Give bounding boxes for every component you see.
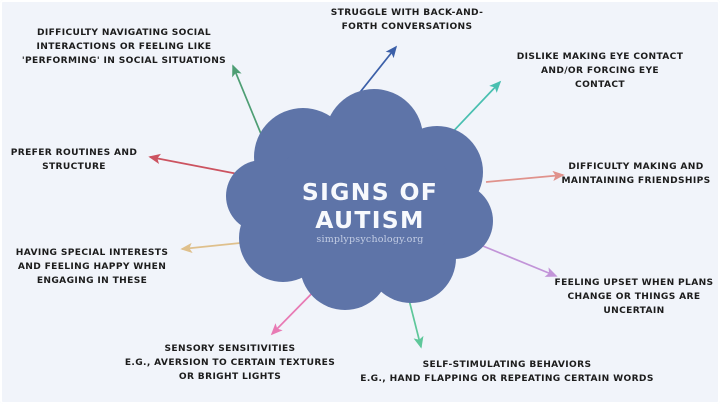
label-plans-change: FEELING UPSET WHEN PLANS CHANGE OR THING… [552, 276, 716, 318]
arrow-plans-change [478, 244, 556, 276]
label-eye-contact: DISLIKE MAKING EYE CONTACT AND/OR FORCIN… [494, 50, 706, 92]
label-friendships: DIFFICULTY MAKING AND MAINTAINING FRIEND… [556, 160, 716, 188]
diagram-canvas: SIGNS OF AUTISM simplypsychology.org DIF… [0, 0, 720, 404]
arrow-friendships [486, 175, 563, 182]
source-credit: simplypsychology.org [248, 234, 492, 245]
label-routines-structure: PREFER ROUTINES AND STRUCTURE [4, 146, 144, 174]
label-sensory-sensitivities: SENSORY SENSITIVITIES E.G., AVERSION TO … [112, 342, 348, 384]
label-special-interests: HAVING SPECIAL INTERESTS AND FEELING HAP… [4, 246, 180, 288]
arrow-routines-structure [150, 157, 238, 174]
page-title: SIGNS OF AUTISM [248, 178, 492, 234]
label-back-and-forth-conversations: STRUGGLE WITH BACK-AND- FORTH CONVERSATI… [312, 6, 502, 34]
label-self-stimulating-behaviors: SELF-STIMULATING BEHAVIORS E.G., HAND FL… [346, 358, 668, 386]
label-social-interactions: DIFFICULTY NAVIGATING SOCIAL INTERACTION… [8, 26, 240, 68]
